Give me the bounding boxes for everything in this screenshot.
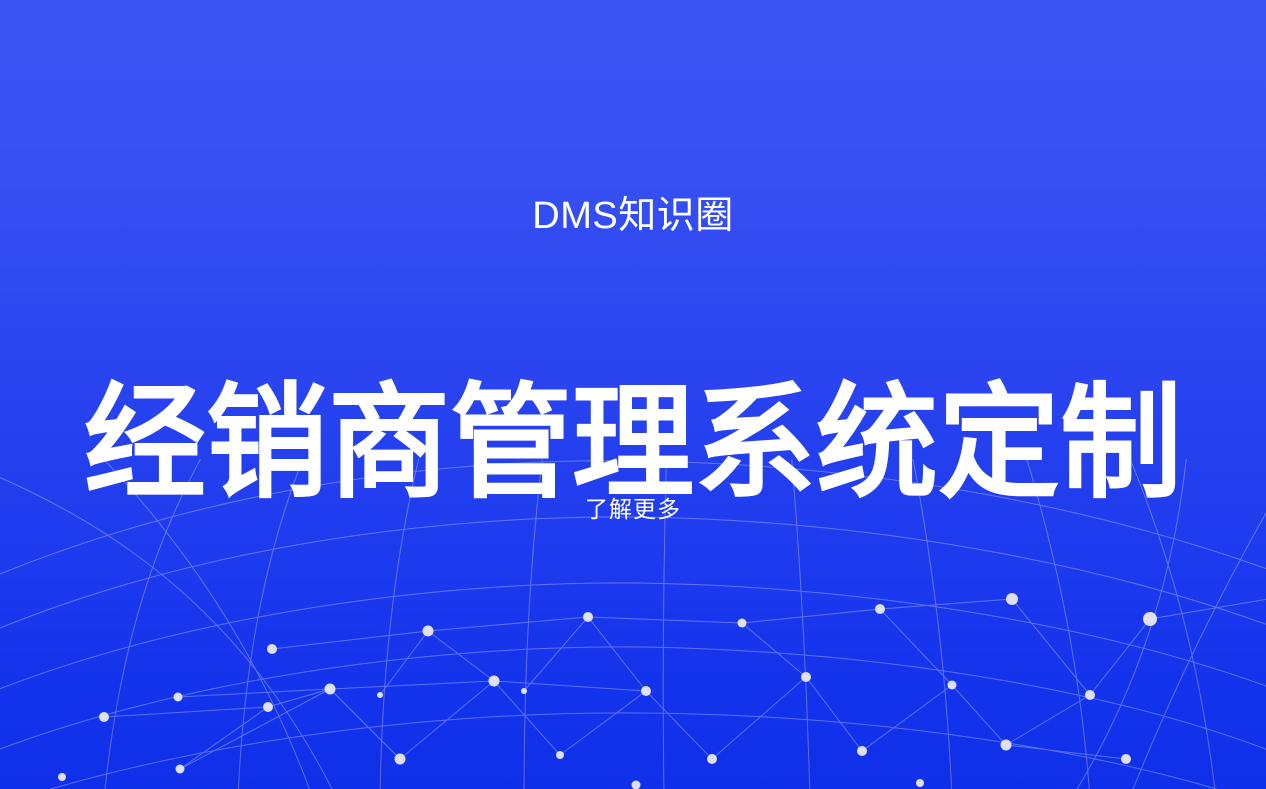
learn-more-link[interactable]: 了解更多 — [0, 498, 1266, 521]
brand-eyebrow: DMS知识圈 — [0, 197, 1266, 235]
page-title: 经销商管理系统定制 — [0, 381, 1266, 505]
promo-banner: DMS知识圈 经销商管理系统定制 了解更多 — [0, 0, 1266, 789]
banner-content: DMS知识圈 经销商管理系统定制 了解更多 — [0, 0, 1266, 789]
